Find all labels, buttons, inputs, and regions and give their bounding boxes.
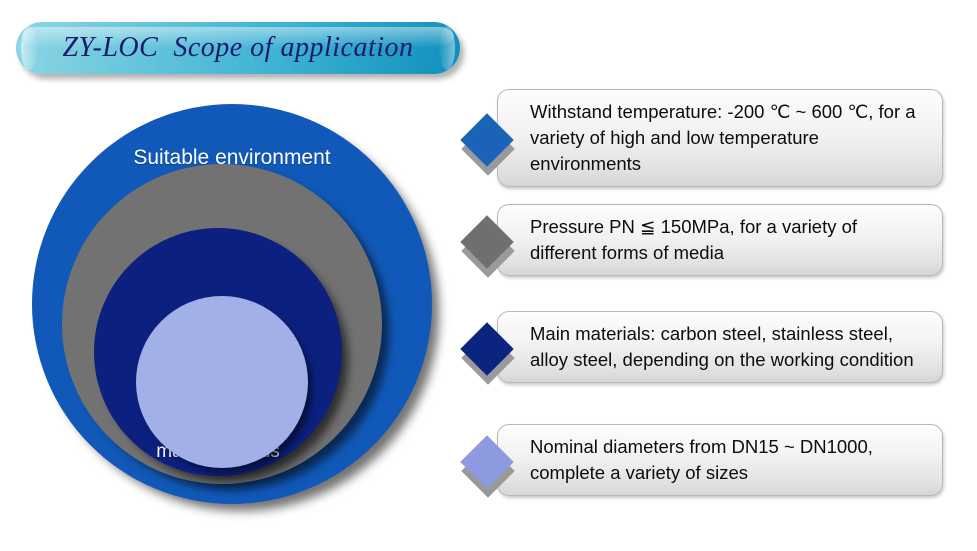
- diamond-icon: [460, 215, 513, 268]
- slide-title-banner: ZY-LOC Scope of application: [16, 22, 460, 74]
- callout-text-temperature: Withstand temperature: -200 ℃ ~ 600 ℃, f…: [498, 90, 942, 186]
- diamond-marker-materials: [460, 322, 514, 376]
- concentric-circles-diagram: Suitable environment Suitable Pressure m…: [22, 96, 452, 526]
- diamond-icon: [460, 435, 513, 488]
- callout-text-pressure: Pressure PN ≦ 150MPa, for a variety of d…: [498, 205, 942, 275]
- diamond-marker-pressure: [460, 215, 514, 269]
- callout-card-diameters[interactable]: Nominal diameters from DN15 ~ DN1000, co…: [497, 424, 943, 496]
- callout-card-temperature[interactable]: Withstand temperature: -200 ℃ ~ 600 ℃, f…: [497, 89, 943, 187]
- callout-text-materials: Main materials: carbon steel, stainless …: [498, 312, 942, 382]
- diamond-icon: [460, 322, 513, 375]
- callout-text-diameters: Nominal diameters from DN15 ~ DN1000, co…: [498, 425, 942, 495]
- diamond-marker-temperature: [460, 113, 514, 167]
- slide-canvas: ZY-LOC Scope of application Suitable env…: [0, 0, 977, 551]
- diamond-icon: [460, 113, 513, 166]
- ring-nominal-diameters[interactable]: Nominal diameters: [136, 296, 308, 468]
- callout-card-materials[interactable]: Main materials: carbon steel, stainless …: [497, 311, 943, 383]
- callout-card-pressure[interactable]: Pressure PN ≦ 150MPa, for a variety of d…: [497, 204, 943, 276]
- diamond-marker-diameters: [460, 435, 514, 489]
- page-title: ZY-LOC Scope of application: [16, 22, 460, 74]
